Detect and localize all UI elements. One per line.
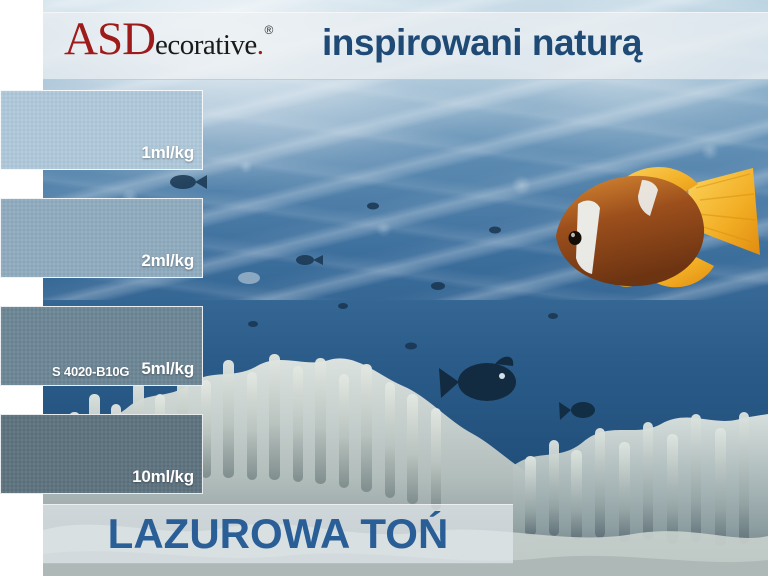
swatch-dose-label: 10ml/kg bbox=[132, 467, 194, 487]
product-title-band: LAZUROWA TOŃ bbox=[43, 504, 513, 564]
swatch-ncs-code: S 4020-B10G bbox=[52, 364, 129, 379]
color-swatch: 2ml/kg bbox=[0, 198, 203, 278]
poster-root: ASDecorative.® inspirowani naturą 1ml/kg… bbox=[0, 0, 768, 576]
brand-tagline: inspirowani naturą bbox=[322, 22, 642, 64]
logo-period: . bbox=[257, 29, 264, 61]
product-title: LAZUROWA TOŃ bbox=[108, 510, 449, 558]
brand-logo: ASDecorative.® bbox=[64, 16, 272, 63]
swatch-dose-label: 1ml/kg bbox=[141, 143, 194, 163]
registered-trademark-icon: ® bbox=[265, 23, 274, 37]
color-swatch: 1ml/kg bbox=[0, 90, 203, 170]
color-swatch: 10ml/kg bbox=[0, 414, 203, 494]
swatch-dose-label: 2ml/kg bbox=[141, 251, 194, 271]
logo-asd-text: ASD bbox=[64, 13, 155, 65]
color-swatch: S 4020-B10G 5ml/kg bbox=[0, 306, 203, 386]
logo-decorative-text: ecorative bbox=[155, 29, 257, 61]
swatch-dose-label: 5ml/kg bbox=[141, 359, 194, 379]
